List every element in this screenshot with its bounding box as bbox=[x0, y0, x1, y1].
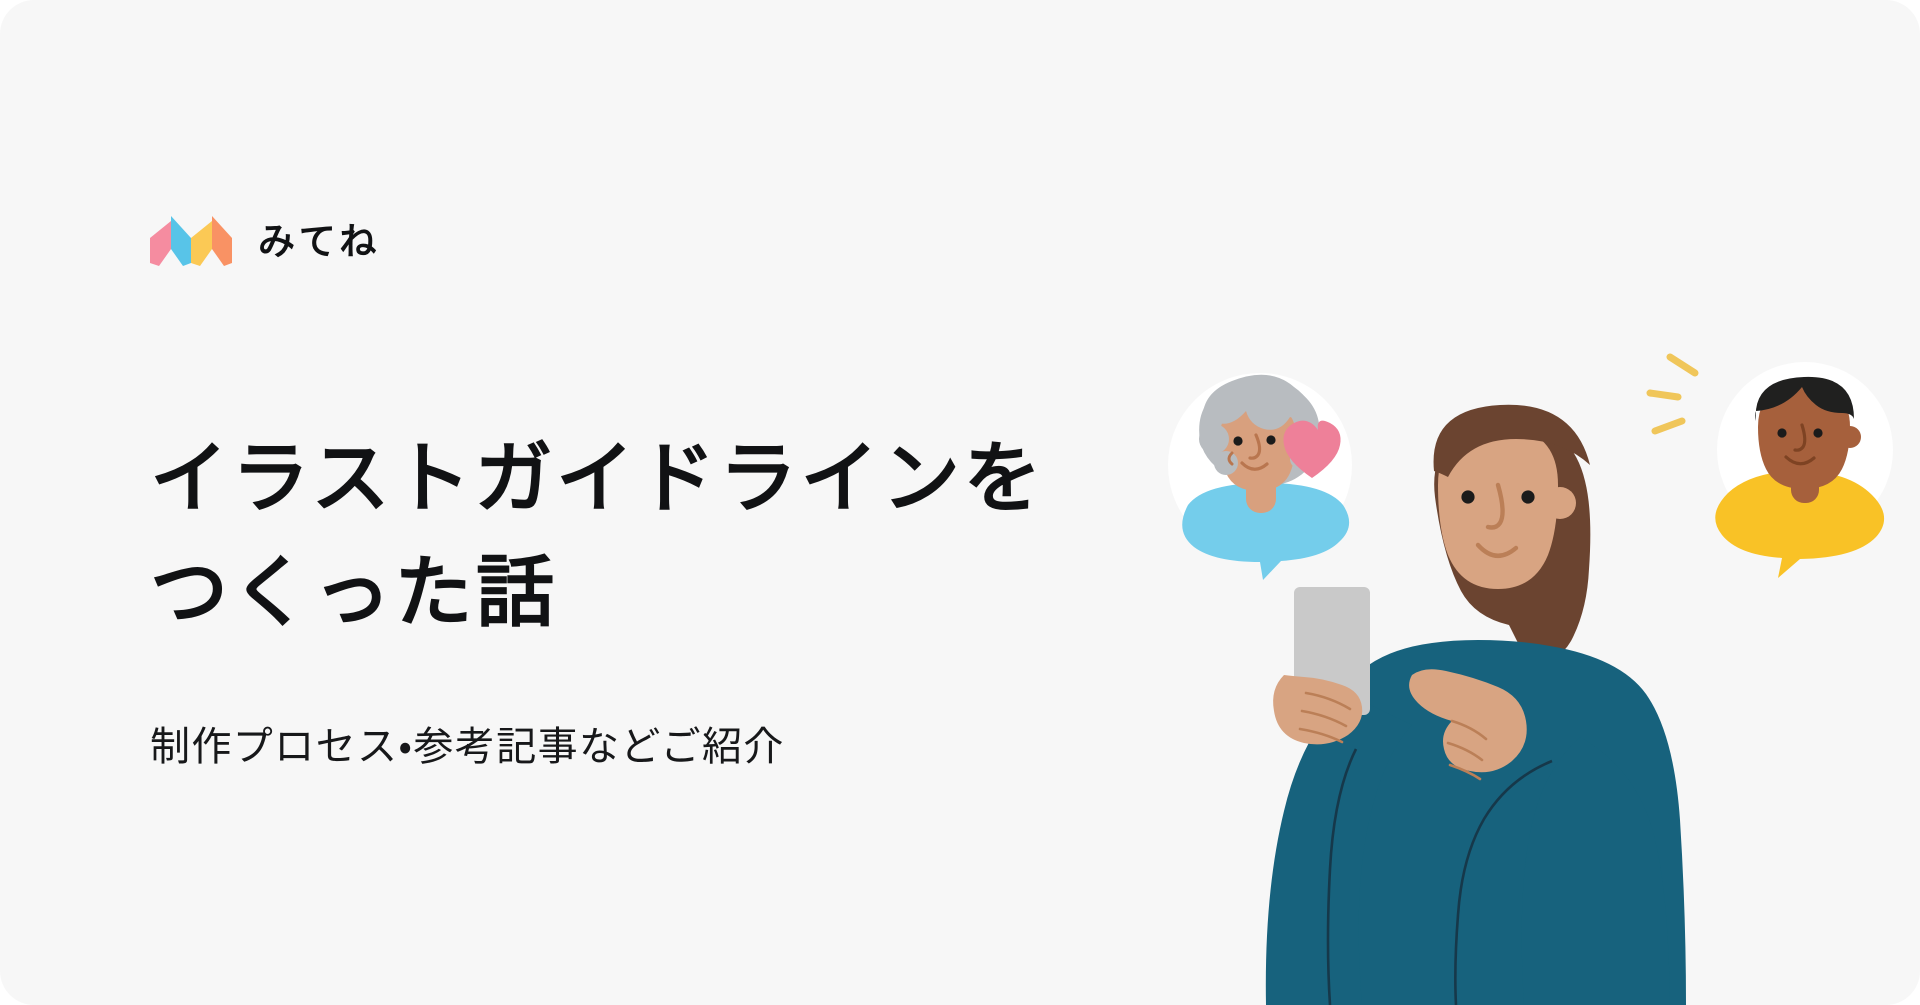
sparkle-lines-icon bbox=[1650, 357, 1695, 431]
page-subtitle: 制作プロセス・参考記事などご紹介 bbox=[150, 719, 785, 775]
brand-lockup: みてね bbox=[150, 216, 380, 266]
headline-line-1: イラストガイドラインを bbox=[150, 422, 1150, 536]
mitene-logo-icon bbox=[150, 216, 232, 266]
page-title: イラストガイドラインを つくった話 bbox=[150, 422, 1150, 650]
young-man-avatar bbox=[1715, 362, 1893, 578]
family-sharing-photos-illustration bbox=[1150, 345, 1920, 1005]
slide-canvas: みてね イラストガイドラインを つくった話 制作プロセス・参考記事などご紹介 bbox=[0, 0, 1920, 1005]
headline-line-2: つくった話 bbox=[150, 536, 1150, 650]
grandmother-avatar bbox=[1168, 373, 1352, 580]
brand-name: みてね bbox=[258, 223, 380, 260]
